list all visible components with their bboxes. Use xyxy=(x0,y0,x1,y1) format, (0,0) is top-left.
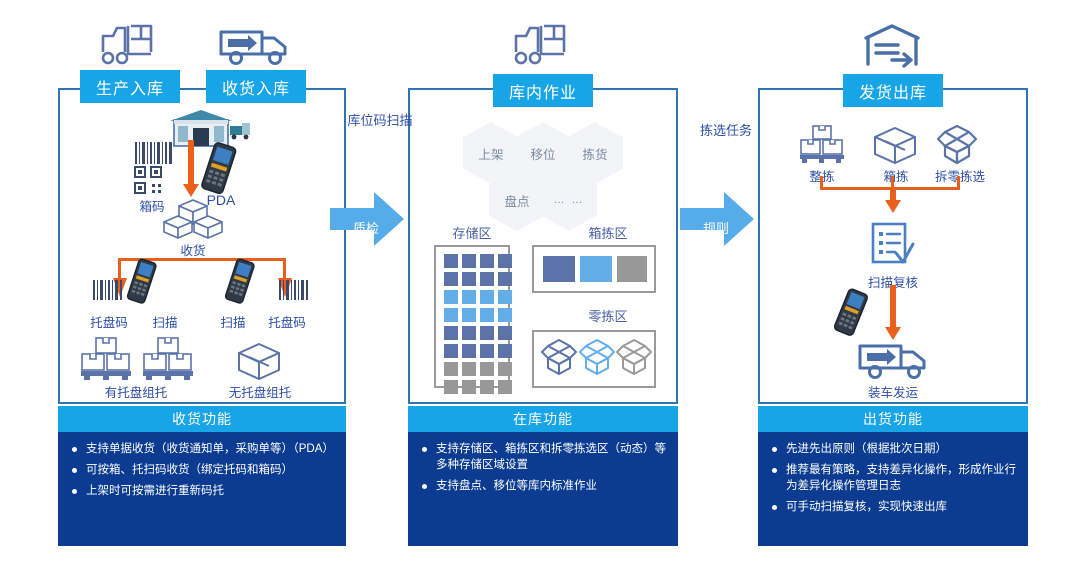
label-with-pallet: 有托盘组托 xyxy=(86,382,186,401)
bullet-text: 支持盘点、移位等库内标准作业 xyxy=(436,478,597,494)
zone-title-storage: 存储区 xyxy=(432,223,512,242)
connector-2-label: 拣选任务 xyxy=(681,122,771,139)
merge-connector-right xyxy=(957,176,960,188)
inbound-card-title: 收货功能 xyxy=(58,406,346,432)
label-pallet-code-left: 托盘码 xyxy=(78,312,140,331)
list-item: 上架时可按需进行重新码托 xyxy=(64,483,336,499)
pallet-stack-icon xyxy=(142,336,194,385)
closed-box-icon xyxy=(236,342,282,387)
qr-code-icon xyxy=(134,166,168,200)
label-case-pick: 箱拣 xyxy=(866,166,926,185)
warehouse-out-icon xyxy=(862,22,924,73)
checklist-icon xyxy=(869,222,915,271)
flow-arrow-down-icon xyxy=(884,188,902,219)
internal-card-title: 在库功能 xyxy=(408,406,678,432)
list-item: 推荐最有策略，支持差异化操作，形成作业行为差异化操作管理日志 xyxy=(764,462,1018,494)
outbound-feature-card: 出货功能 先进先出原则（根据批次日期） 推荐最有策略，支持差异化操作，形成作业行… xyxy=(758,406,1028,546)
bullet-dot-icon xyxy=(772,447,777,452)
connector-2-label-text: 拣选任务 xyxy=(700,123,752,138)
forklift-icon xyxy=(95,22,157,71)
label-loading-shipping: 装车发运 xyxy=(855,382,931,401)
bullet-dot-icon xyxy=(772,505,777,510)
open-box-icon xyxy=(935,124,979,171)
outbound-card-title: 出货功能 xyxy=(758,406,1028,432)
case-swatch-1 xyxy=(580,256,612,282)
bullet-text: 支持存储区、箱拣区和拆零拣选区（动态）等多种存储区域设置 xyxy=(436,441,668,473)
list-item: 先进先出原则（根据批次日期） xyxy=(764,441,1018,457)
zone-title-piece-pick: 零拣区 xyxy=(568,306,648,325)
bullet-dot-icon xyxy=(772,468,777,473)
boxes-stack-icon xyxy=(162,198,224,245)
connector-1-label: 库位码扫描 xyxy=(335,112,425,129)
open-box-icon xyxy=(615,338,653,383)
inbound-feature-card: 收货功能 支持单据收货（收货通知单，采购单等）（PDA） 可按箱、托扫码收货（绑… xyxy=(58,406,346,546)
diagram-canvas: 生产入库 收货入库 库内作业 发货出库 xyxy=(0,0,1080,570)
bullet-dot-icon xyxy=(422,484,427,489)
label-receiving: 收货 xyxy=(163,240,223,259)
merge-connector-mid xyxy=(891,176,894,188)
pallet-stack-icon xyxy=(798,124,846,169)
flow-arrow-down-icon xyxy=(182,140,200,203)
forklift-icon xyxy=(508,22,570,71)
bullet-dot-icon xyxy=(72,447,77,452)
bullet-dot-icon xyxy=(72,489,77,494)
case-swatch-2 xyxy=(617,256,647,282)
barcode-icon xyxy=(134,142,174,169)
bullet-text: 可手动扫描复核，实现快速出库 xyxy=(786,499,947,515)
bullet-text: 推荐最有策略，支持差异化操作，形成作业行为差异化操作管理日志 xyxy=(786,462,1018,494)
connector-1-inner-label: 质检 xyxy=(336,218,396,237)
label-scan-left: 扫描 xyxy=(140,312,190,331)
pallet-stack-icon xyxy=(80,336,132,385)
internal-card-body: 支持存储区、箱拣区和拆零拣选区（动态）等多种存储区域设置 支持盘点、移位等库内标… xyxy=(408,432,678,494)
label-pallet-code-right: 托盘码 xyxy=(256,312,318,331)
tab-receiving-inbound[interactable]: 收货入库 xyxy=(206,70,306,103)
barcode-icon xyxy=(278,280,312,305)
list-item: 支持存储区、箱拣区和拆零拣选区（动态）等多种存储区域设置 xyxy=(414,441,668,473)
outbound-card-body: 先进先出原则（根据批次日期） 推荐最有策略，支持差异化操作，形成作业行为差异化操… xyxy=(758,432,1028,515)
delivery-truck-icon xyxy=(218,26,290,71)
delivery-truck-icon xyxy=(857,340,929,385)
closed-box-icon xyxy=(872,126,918,171)
case-swatch-0 xyxy=(543,256,575,282)
bullet-text: 先进先出原则（根据批次日期） xyxy=(786,441,947,457)
list-item: 支持盘点、移位等库内标准作业 xyxy=(414,478,668,494)
merge-connector-left xyxy=(820,176,823,188)
label-scan-right: 扫描 xyxy=(208,312,258,331)
tab-production-inbound[interactable]: 生产入库 xyxy=(80,70,180,103)
flow-arrow-down-icon xyxy=(884,285,902,346)
bullet-text: 上架时可按需进行重新码托 xyxy=(86,483,224,499)
connector-1-label-text: 库位码扫描 xyxy=(347,113,412,128)
internal-feature-card: 在库功能 支持存储区、箱拣区和拆零拣选区（动态）等多种存储区域设置 支持盘点、移… xyxy=(408,406,678,546)
bullet-dot-icon xyxy=(422,447,427,452)
barcode-icon xyxy=(92,280,126,305)
connector-2-inner-label: 规则 xyxy=(686,218,746,237)
list-item: 支持单据收货（收货通知单，采购单等）（PDA） xyxy=(64,441,336,457)
label-piece-pick: 拆零拣选 xyxy=(920,166,1000,185)
tab-internal-operations[interactable]: 库内作业 xyxy=(493,74,593,107)
inbound-card-body: 支持单据收货（收货通知单，采购单等）（PDA） 可按箱、托扫码收货（绑定托码和箱… xyxy=(58,432,346,499)
tab-shipping-outbound[interactable]: 发货出库 xyxy=(843,74,943,107)
list-item: 可手动扫描复核，实现快速出库 xyxy=(764,499,1018,515)
forklift-small-icon xyxy=(228,120,254,145)
zone-title-case-pick: 箱拣区 xyxy=(568,223,648,242)
bullet-text: 支持单据收货（收货通知单，采购单等）（PDA） xyxy=(86,441,334,457)
bullet-text: 可按箱、托扫码收货（绑定托码和箱码） xyxy=(86,462,293,478)
list-item: 可按箱、托扫码收货（绑定托码和箱码） xyxy=(64,462,336,478)
open-box-icon xyxy=(540,338,578,383)
label-without-pallet: 无托盘组托 xyxy=(210,382,310,401)
bullet-dot-icon xyxy=(72,468,77,473)
open-box-icon xyxy=(578,338,616,383)
storage-grid xyxy=(444,254,512,394)
